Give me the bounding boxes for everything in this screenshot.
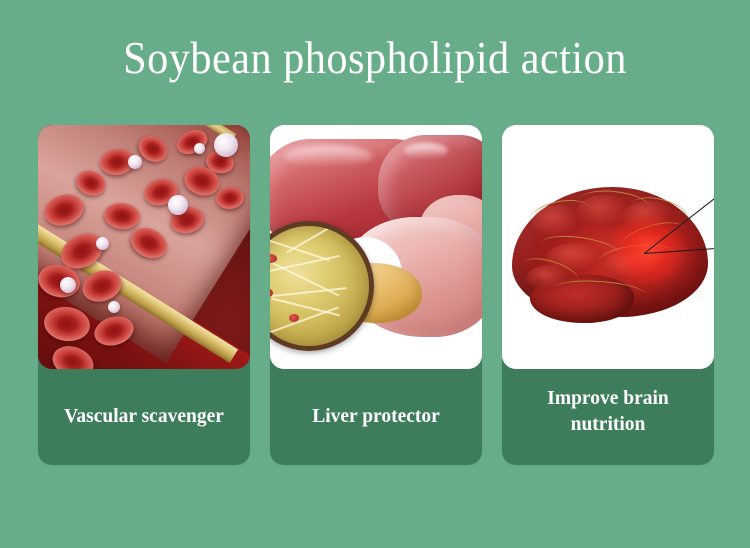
card-caption: Vascular scavenger (38, 369, 250, 465)
liver-illustration (270, 125, 482, 369)
page-title: Soybean phospholipid action (23, 30, 728, 86)
blood-cell-group (38, 125, 250, 369)
card-image-liver (270, 125, 482, 369)
card-caption: Liver protector (270, 369, 482, 465)
card-image-brain (502, 125, 714, 369)
red-blood-cell (103, 201, 142, 231)
card-image-blood-vessel (38, 125, 250, 369)
card-liver-protector[interactable]: Liver protector (270, 125, 482, 465)
red-blood-cell (126, 222, 172, 264)
card-caption: Improve brain nutrition (502, 369, 714, 465)
red-blood-cell (40, 190, 87, 231)
white-blood-cell (96, 237, 109, 250)
brain-illustration (502, 125, 714, 369)
poster-root: Soybean phospholipid action (0, 0, 750, 548)
white-blood-cell (194, 143, 205, 154)
red-blood-cell (91, 312, 137, 350)
card-row: Vascular scavenger (38, 125, 714, 465)
red-blood-cell (42, 304, 92, 344)
liver-highlight (284, 145, 372, 167)
white-blood-cell (168, 195, 188, 215)
red-blood-cell (48, 341, 98, 369)
white-blood-cell (60, 277, 76, 293)
card-vascular-scavenger[interactable]: Vascular scavenger (38, 125, 250, 465)
white-blood-cell (108, 301, 120, 313)
red-blood-cell (173, 125, 211, 158)
red-blood-cell (215, 186, 245, 211)
red-blood-cell (78, 265, 126, 307)
card-improve-brain-nutrition[interactable]: Improve brain nutrition (502, 125, 714, 465)
blood-vessel-illustration (38, 125, 250, 369)
white-blood-cell (214, 133, 238, 157)
liver-highlight (404, 143, 448, 159)
white-blood-cell (128, 155, 142, 169)
